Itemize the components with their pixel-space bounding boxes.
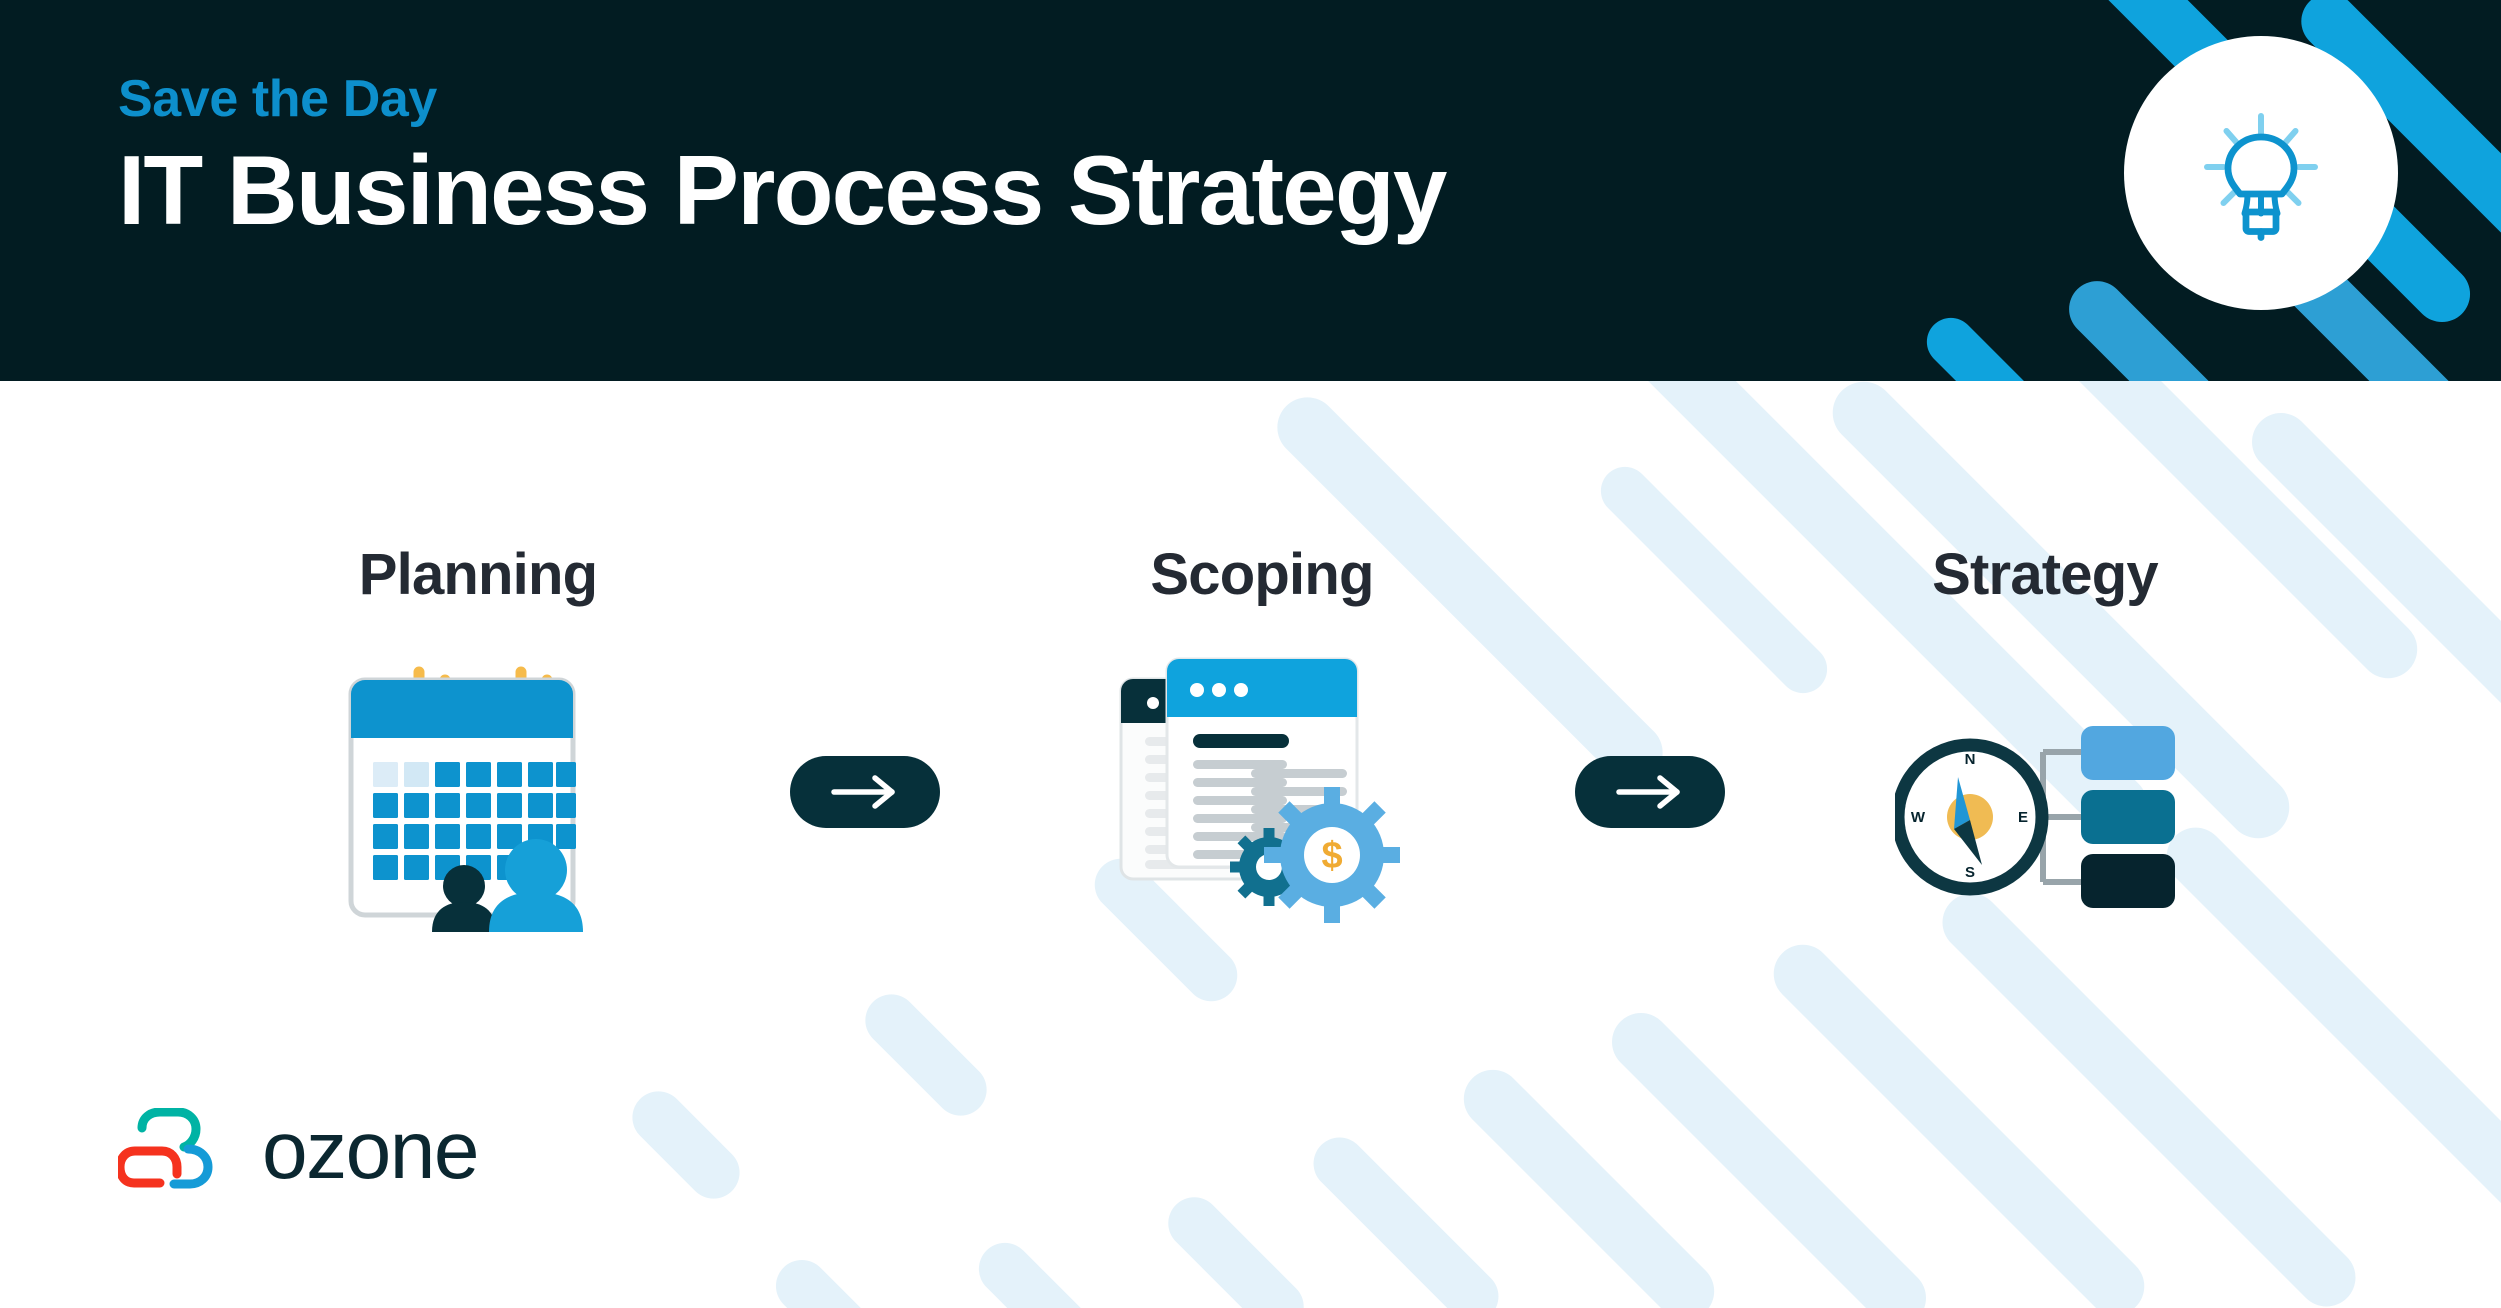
lightbulb-icon: [2186, 98, 2336, 248]
step-icon-planning: [243, 642, 713, 932]
documents-gears-icon: $: [1117, 657, 1407, 932]
step-icon-scoping: $: [1027, 642, 1497, 932]
compass-tree-icon: N E S W: [1895, 702, 2195, 932]
header-banner: Save the Day IT Business Process Strateg…: [0, 0, 2501, 381]
tree-node-1: [2081, 726, 2175, 780]
tree-node-3: [2081, 854, 2175, 908]
background-stripe: [968, 1232, 1104, 1308]
step-icon-strategy: N E S W: [1810, 642, 2280, 932]
tree-node-2: [2081, 790, 2175, 844]
step-scoping: Scoping: [1027, 541, 1497, 932]
process-steps: Planning: [0, 381, 2501, 1081]
lightbulb-badge: [2124, 36, 2398, 310]
step-label-strategy: Strategy: [1810, 541, 2280, 608]
background-stripe: [1158, 1187, 1315, 1308]
background-stripe: [765, 1249, 887, 1308]
step-label-planning: Planning: [243, 541, 713, 608]
calendar-people-icon: [341, 662, 616, 932]
header-eyebrow: Save the Day: [118, 72, 1446, 127]
step-label-scoping: Scoping: [1027, 541, 1497, 608]
step-strategy: Strategy N: [1810, 541, 2280, 932]
background-stripe: [622, 1081, 751, 1210]
arrow-right-icon: [1615, 775, 1685, 809]
background-stripe: [1303, 1127, 1509, 1308]
arrow-right-icon: [830, 775, 900, 809]
page-title: IT Business Process Strategy: [118, 141, 1446, 241]
infographic-canvas: Save the Day IT Business Process Strateg…: [0, 0, 2501, 1308]
svg-text:E: E: [2018, 809, 2028, 826]
ozone-logo: ozone: [118, 1108, 478, 1194]
background-stripe: [1452, 1058, 1726, 1308]
dollar-sign-glyph: $: [1321, 835, 1342, 877]
svg-text:W: W: [1911, 809, 1926, 826]
svg-text:N: N: [1965, 751, 1976, 768]
step-planning: Planning: [243, 541, 713, 932]
header-text-block: Save the Day IT Business Process Strateg…: [118, 72, 1446, 241]
svg-text:S: S: [1965, 864, 1975, 881]
step-connector-arrow-1[interactable]: [790, 756, 940, 828]
header-stripe: [1917, 308, 2071, 381]
step-connector-arrow-2[interactable]: [1575, 756, 1725, 828]
ozone-cloud-icon: [118, 1108, 238, 1194]
ozone-wordmark: ozone: [262, 1110, 478, 1192]
